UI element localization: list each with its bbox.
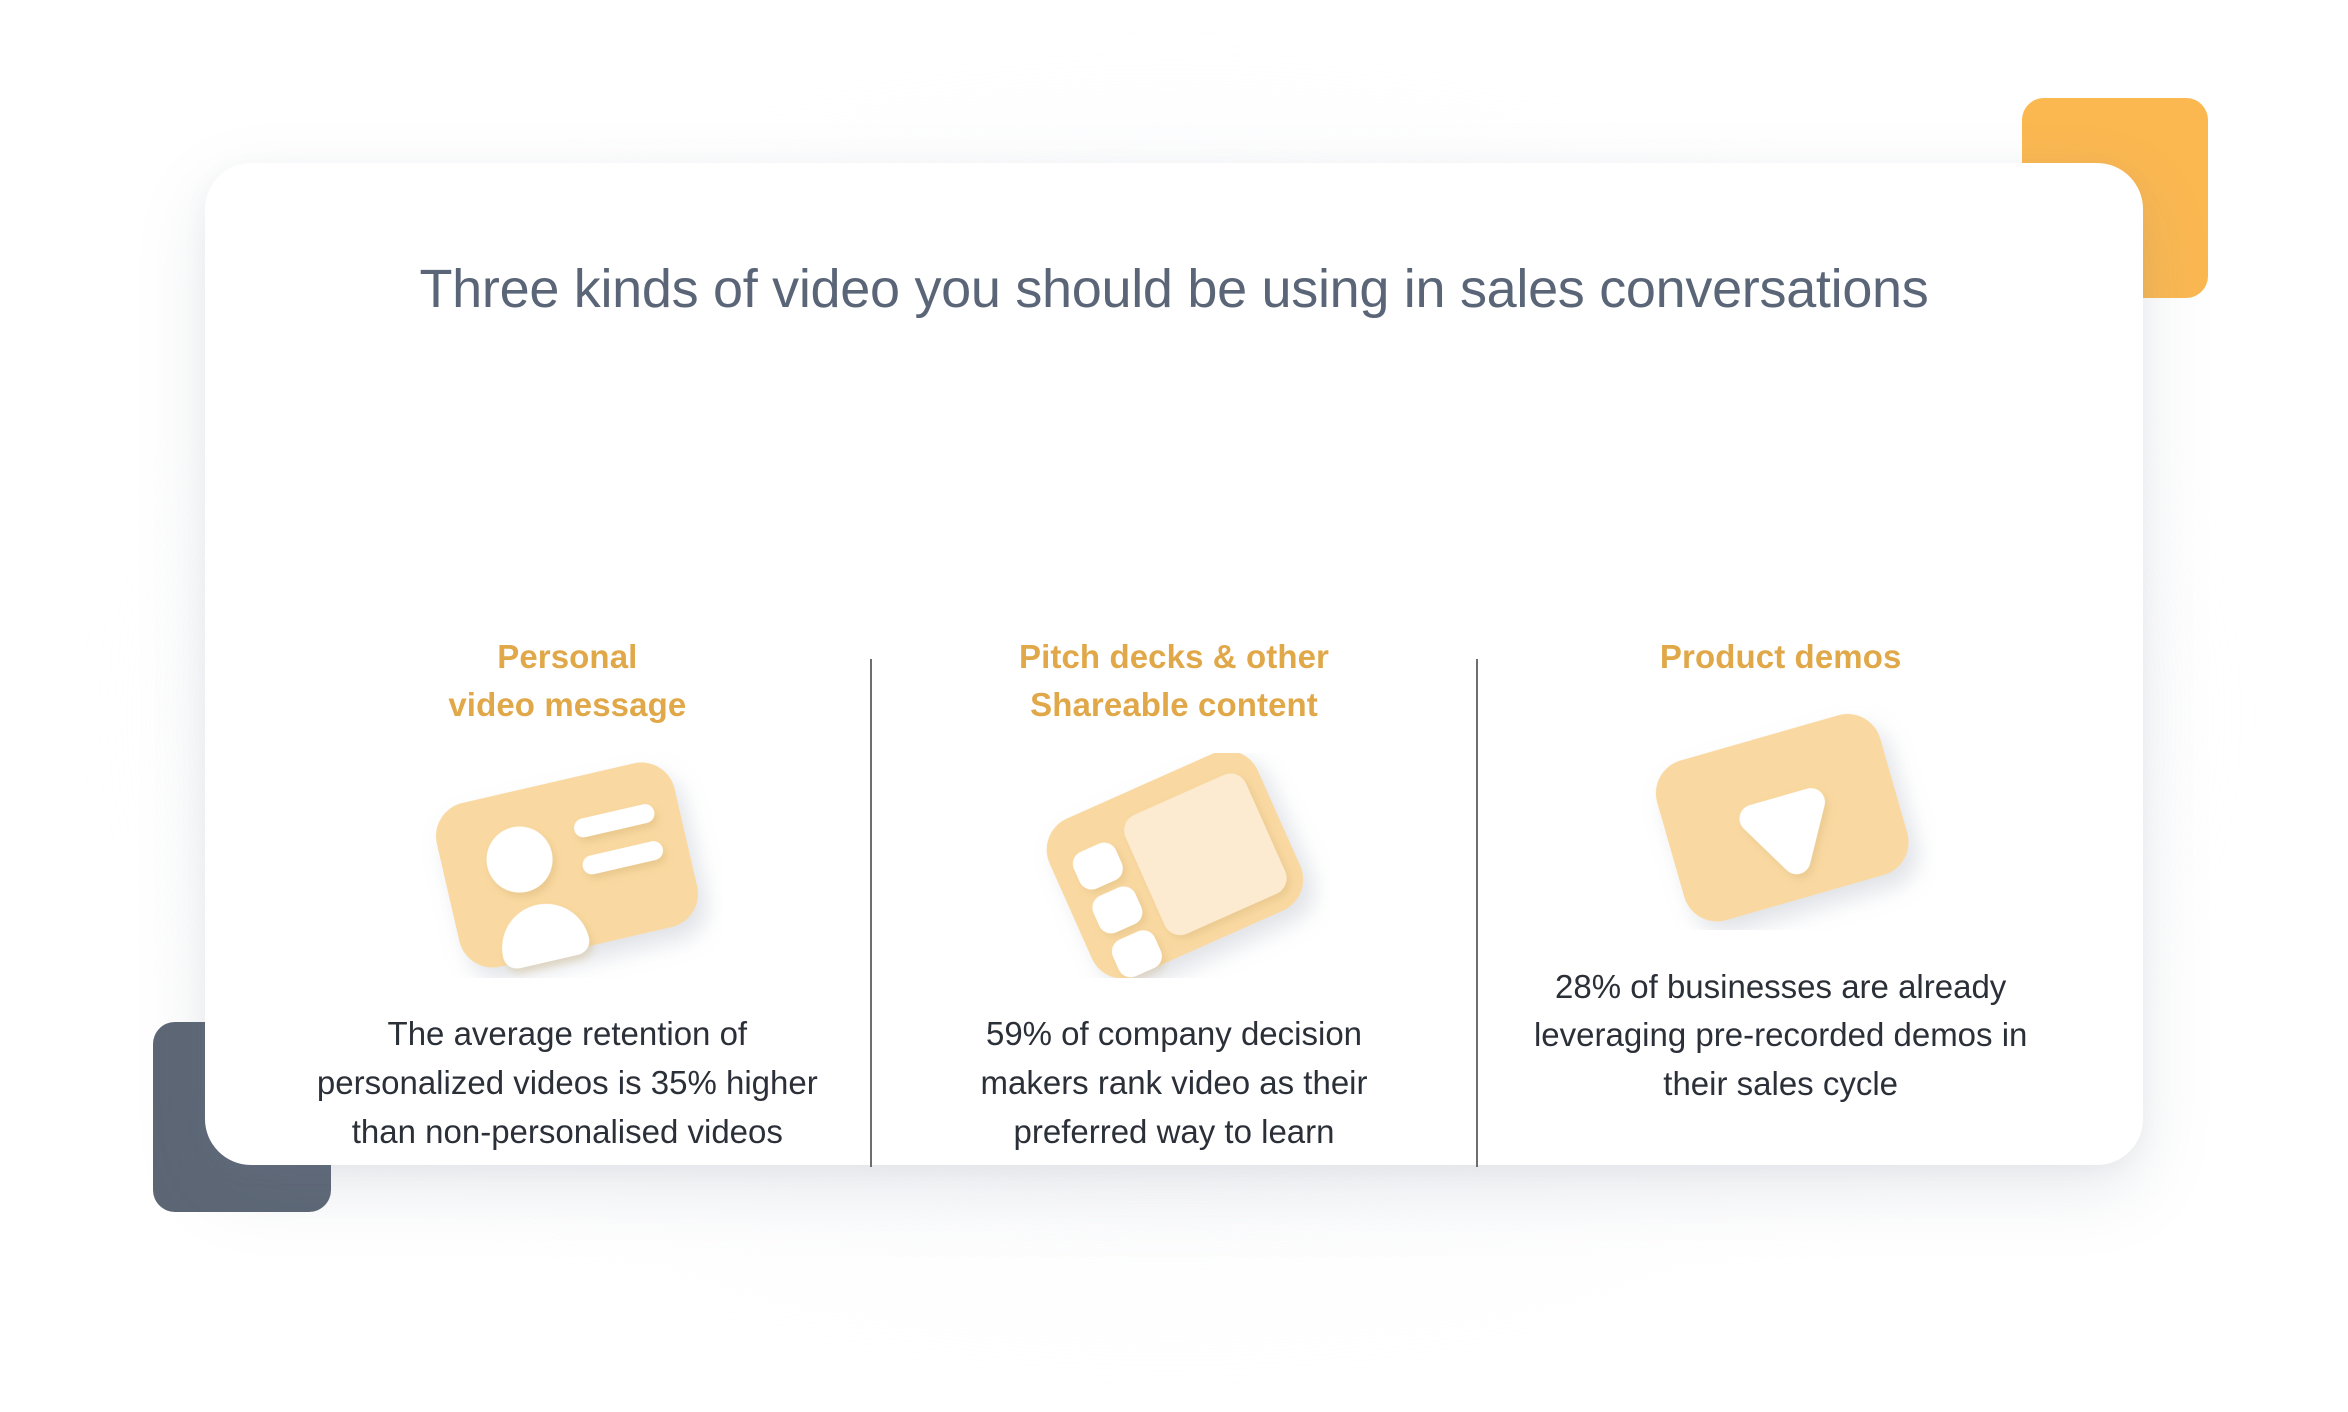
column-heading: Product demos bbox=[1660, 633, 1902, 681]
play-button-card-glyph bbox=[1626, 705, 1936, 930]
video-message-card-icon bbox=[402, 750, 732, 980]
slide-deck-card-icon bbox=[1009, 750, 1339, 980]
column-pitch-decks: Pitch decks & other Shareable content bbox=[872, 633, 1477, 1157]
column-body-text: 28% of businesses are already leveraging… bbox=[1531, 963, 2031, 1109]
infographic-canvas: Three kinds of video you should be using… bbox=[0, 0, 2348, 1412]
column-heading: Pitch decks & other Shareable content bbox=[1019, 633, 1329, 728]
columns-container: Personal video message bbox=[265, 633, 2083, 1167]
column-heading: Personal video message bbox=[448, 633, 686, 728]
column-personal-video-message: Personal video message bbox=[265, 633, 870, 1157]
content-card: Three kinds of video you should be using… bbox=[205, 163, 2143, 1165]
column-body-text: 59% of company decision makers rank vide… bbox=[934, 1010, 1414, 1156]
play-button-card-icon bbox=[1616, 703, 1946, 933]
video-message-card-glyph bbox=[412, 753, 722, 978]
page-title: Three kinds of video you should be using… bbox=[205, 258, 2143, 320]
slide-deck-card-glyph bbox=[1019, 753, 1329, 978]
column-body-text: The average retention of personalized vi… bbox=[312, 1010, 822, 1156]
column-product-demos: Product demos bbox=[1478, 633, 2083, 1109]
